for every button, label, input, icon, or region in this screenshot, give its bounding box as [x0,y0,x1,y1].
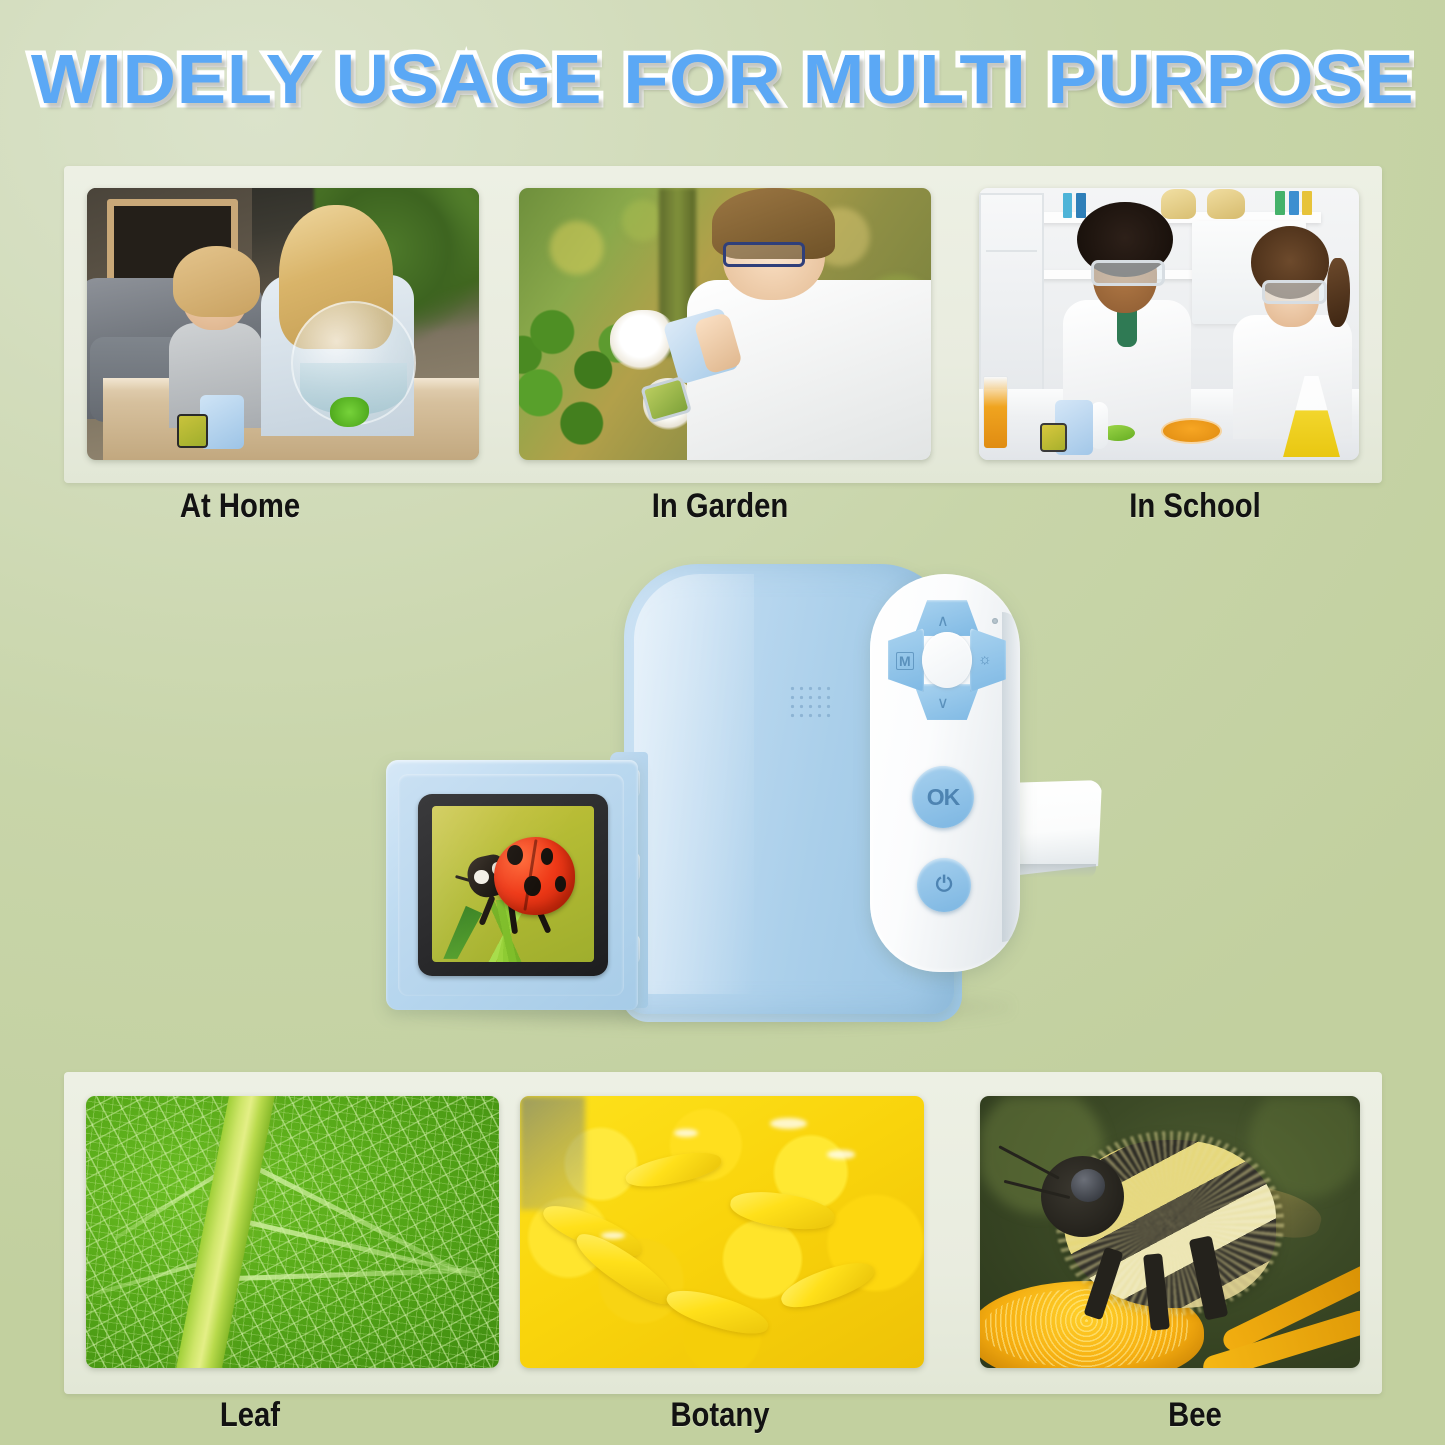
dpad-brightness-button[interactable] [970,628,1006,692]
power-button[interactable]: ⏻ [917,858,971,912]
photo-in-garden [519,188,931,460]
photo-at-home [87,188,479,460]
caption-leaf: Leaf [44,1396,457,1435]
photo-in-school [979,188,1359,460]
use-case-panel-top [64,166,1382,483]
caption-at-home: At Home [34,487,447,526]
photo-leaf [86,1096,499,1368]
product-feature-graphic: WIDELY USAGE FOR MULTI PURPOSE [0,0,1445,1445]
dpad-mode-button[interactable] [888,628,924,692]
speaker-grille-icon [788,684,834,720]
ok-button[interactable]: OK [912,766,974,828]
indicator-led [992,618,998,624]
caption-in-garden: In Garden [505,487,935,526]
dpad-cluster: ∧ ∨ M ☼ [888,600,1006,720]
product-device: ∧ ∨ M ☼ OK ⏻ [372,552,1092,1052]
dpad-center[interactable] [922,632,972,688]
headline-container: WIDELY USAGE FOR MULTI PURPOSE [0,42,1445,116]
photo-bee [980,1096,1360,1368]
caption-bee: Bee [980,1396,1410,1435]
caption-botany: Botany [505,1396,935,1435]
sample-panel-bottom [64,1072,1382,1394]
caption-in-school: In School [980,487,1410,526]
lcd-screen [432,806,594,962]
photo-botany [520,1096,924,1368]
page-title: WIDELY USAGE FOR MULTI PURPOSE [31,42,1414,116]
